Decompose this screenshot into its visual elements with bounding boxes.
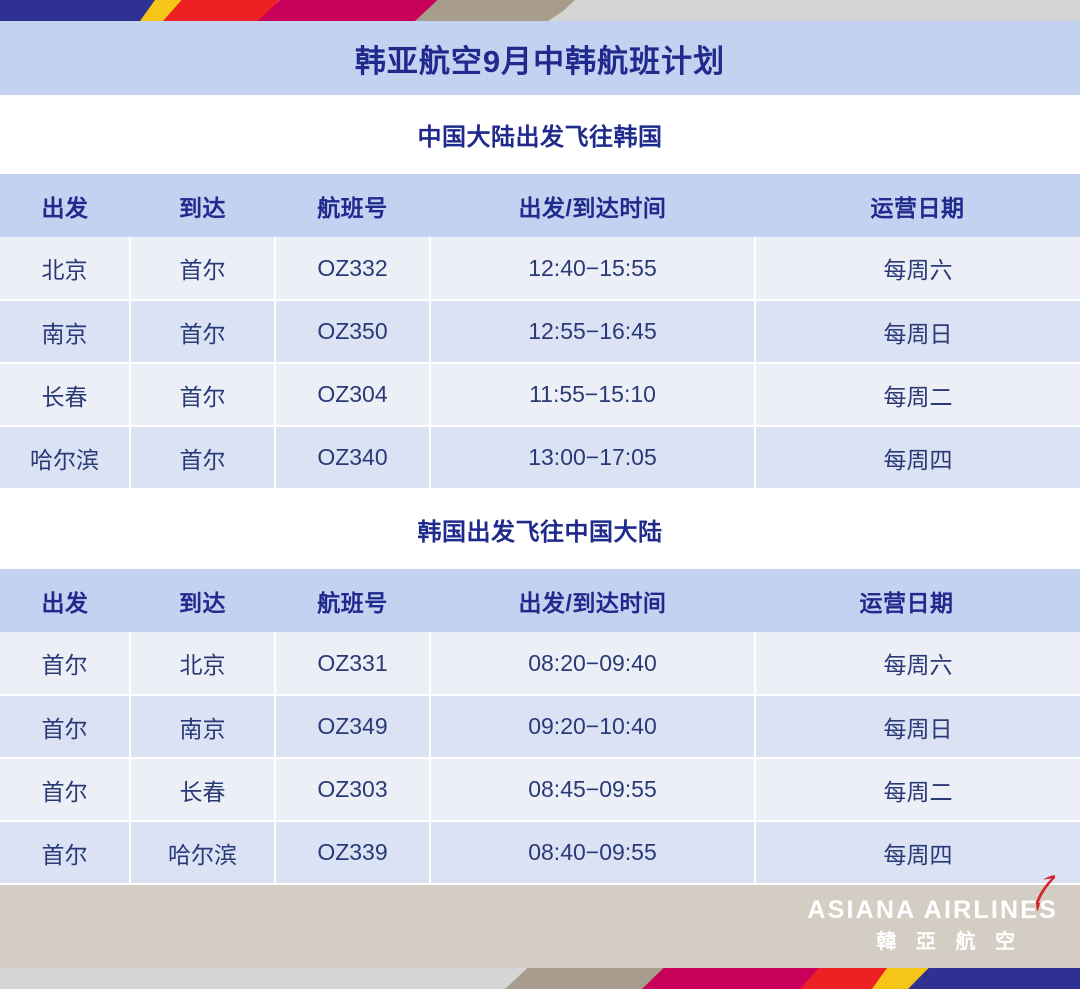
stripe-segment-gray xyxy=(548,0,1080,21)
cell-time: 13:00−17:05 xyxy=(430,426,755,489)
asiana-swoosh-icon xyxy=(1014,872,1060,918)
flight-table-outbound: 出发 到达 航班号 出发/到达时间 运营日期 北京 首尔 OZ332 12:40… xyxy=(0,174,1080,490)
cell-flight-no: OZ303 xyxy=(275,758,430,821)
section-title-outbound-label: 中国大陆出发飞往韩国 xyxy=(418,117,663,152)
cell-days: 每周四 xyxy=(755,426,1080,489)
cell-departure: 北京 xyxy=(0,237,130,300)
cell-arrival: 首尔 xyxy=(130,363,275,426)
column-header-operating-days: 运营日期 xyxy=(755,174,1080,237)
cell-arrival: 北京 xyxy=(130,632,275,695)
section-title-inbound: 韩国出发飞往中国大陆 xyxy=(0,490,1080,569)
column-header-arrival: 到达 xyxy=(130,174,275,237)
column-header-arrival: 到达 xyxy=(130,569,275,632)
flight-schedule-poster: 韩亚航空9月中韩航班计划 中国大陆出发飞往韩国 出发 到达 航班号 出发/到达时… xyxy=(0,0,1080,989)
cell-flight-no: OZ339 xyxy=(275,821,430,884)
stripe-segment-gray xyxy=(0,968,560,989)
table-row: 首尔 南京 OZ349 09:20−10:40 每周日 xyxy=(0,695,1080,758)
column-header-flight-number: 航班号 xyxy=(275,569,430,632)
cell-flight-no: OZ304 xyxy=(275,363,430,426)
table-row: 哈尔滨 首尔 OZ340 13:00−17:05 每周四 xyxy=(0,426,1080,489)
table-row: 南京 首尔 OZ350 12:55−16:45 每周日 xyxy=(0,300,1080,363)
stripe-segment-tan xyxy=(505,968,665,989)
stripe-segment-blue xyxy=(908,968,1080,989)
cell-arrival: 长春 xyxy=(130,758,275,821)
cell-time: 08:20−09:40 xyxy=(430,632,755,695)
footer-band: ASIANA AIRLINES 韓 亞 航 空 xyxy=(0,885,1080,968)
cell-days: 每周日 xyxy=(755,695,1080,758)
column-header-time: 出发/到达时间 xyxy=(430,569,755,632)
cell-time: 12:40−15:55 xyxy=(430,237,755,300)
cell-flight-no: OZ331 xyxy=(275,632,430,695)
table-row: 长春 首尔 OZ304 11:55−15:10 每周二 xyxy=(0,363,1080,426)
cell-departure: 首尔 xyxy=(0,695,130,758)
cell-arrival: 首尔 xyxy=(130,300,275,363)
page-title: 韩亚航空9月中韩航班计划 xyxy=(355,36,725,81)
column-header-departure: 出发 xyxy=(0,569,130,632)
column-header-time: 出发/到达时间 xyxy=(430,174,755,237)
logo-text-cn: 韓 亞 航 空 xyxy=(807,932,1022,952)
cell-days: 每周二 xyxy=(755,758,1080,821)
cell-time: 08:45−09:55 xyxy=(430,758,755,821)
section-title-outbound: 中国大陆出发飞往韩国 xyxy=(0,95,1080,174)
column-header-flight-number: 航班号 xyxy=(275,174,430,237)
flight-table-inbound: 出发 到达 航班号 出发/到达时间 运营日期 首尔 北京 OZ331 08:20… xyxy=(0,569,1080,885)
cell-time: 11:55−15:10 xyxy=(430,363,755,426)
stripe-segment-magenta xyxy=(258,0,438,21)
cell-flight-no: OZ350 xyxy=(275,300,430,363)
cell-days: 每周日 xyxy=(755,300,1080,363)
cell-arrival: 南京 xyxy=(130,695,275,758)
cell-arrival: 首尔 xyxy=(130,237,275,300)
top-decorative-stripe xyxy=(0,0,1080,21)
cell-flight-no: OZ340 xyxy=(275,426,430,489)
table-row: 首尔 北京 OZ331 08:20−09:40 每周六 xyxy=(0,632,1080,695)
cell-departure: 南京 xyxy=(0,300,130,363)
cell-flight-no: OZ332 xyxy=(275,237,430,300)
cell-time: 09:20−10:40 xyxy=(430,695,755,758)
cell-time: 12:55−16:45 xyxy=(430,300,755,363)
bottom-decorative-stripe xyxy=(0,968,1080,989)
cell-days: 每周六 xyxy=(755,237,1080,300)
cell-departure: 哈尔滨 xyxy=(0,426,130,489)
column-header-operating-days: 运营日期 xyxy=(755,569,1080,632)
cell-arrival: 哈尔滨 xyxy=(130,821,275,884)
column-header-departure: 出发 xyxy=(0,174,130,237)
table-row: 首尔 长春 OZ303 08:45−09:55 每周二 xyxy=(0,758,1080,821)
cell-departure: 首尔 xyxy=(0,632,130,695)
section-title-inbound-label: 韩国出发飞往中国大陆 xyxy=(418,512,663,547)
cell-departure: 首尔 xyxy=(0,821,130,884)
cell-arrival: 首尔 xyxy=(130,426,275,489)
table-header-row: 出发 到达 航班号 出发/到达时间 运营日期 xyxy=(0,174,1080,237)
table-header-row: 出发 到达 航班号 出发/到达时间 运营日期 xyxy=(0,569,1080,632)
cell-departure: 长春 xyxy=(0,363,130,426)
stripe-segment-magenta xyxy=(642,968,822,989)
table-row: 北京 首尔 OZ332 12:40−15:55 每周六 xyxy=(0,237,1080,300)
page-title-band: 韩亚航空9月中韩航班计划 xyxy=(0,21,1080,95)
cell-days: 每周二 xyxy=(755,363,1080,426)
asiana-logo: ASIANA AIRLINES 韓 亞 航 空 xyxy=(807,898,1058,952)
stripe-segment-tan xyxy=(415,0,575,21)
cell-time: 08:40−09:55 xyxy=(430,821,755,884)
table-row: 首尔 哈尔滨 OZ339 08:40−09:55 每周四 xyxy=(0,821,1080,884)
cell-departure: 首尔 xyxy=(0,758,130,821)
cell-flight-no: OZ349 xyxy=(275,695,430,758)
cell-days: 每周六 xyxy=(755,632,1080,695)
